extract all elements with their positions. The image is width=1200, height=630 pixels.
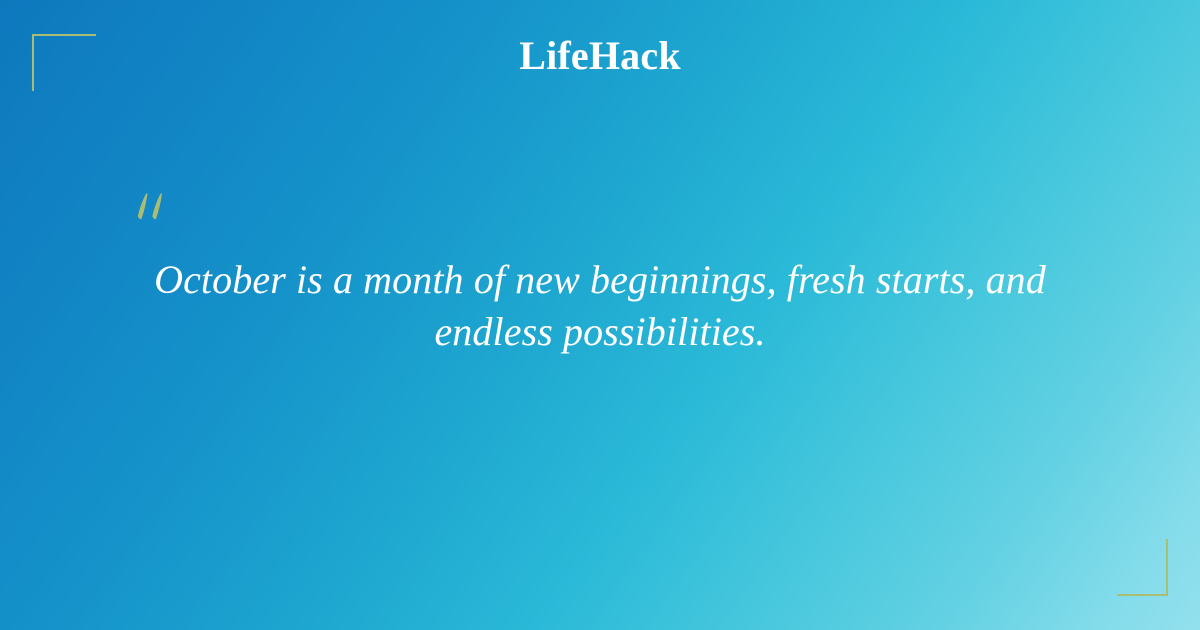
brand-name: LifeHack [519,36,681,76]
quote-card: LifeHack October is a month of new begin… [0,0,1200,630]
quote-text: October is a month of new beginnings, fr… [100,254,1100,358]
corner-bracket-bottom-right-icon [1117,539,1168,596]
brand-logo: LifeHack [0,36,1200,76]
quotation-mark-icon [134,190,180,236]
bracket-vertical-line [1166,539,1168,596]
bracket-horizontal-line [1117,594,1168,596]
quote-block: October is a month of new beginnings, fr… [100,190,1100,358]
